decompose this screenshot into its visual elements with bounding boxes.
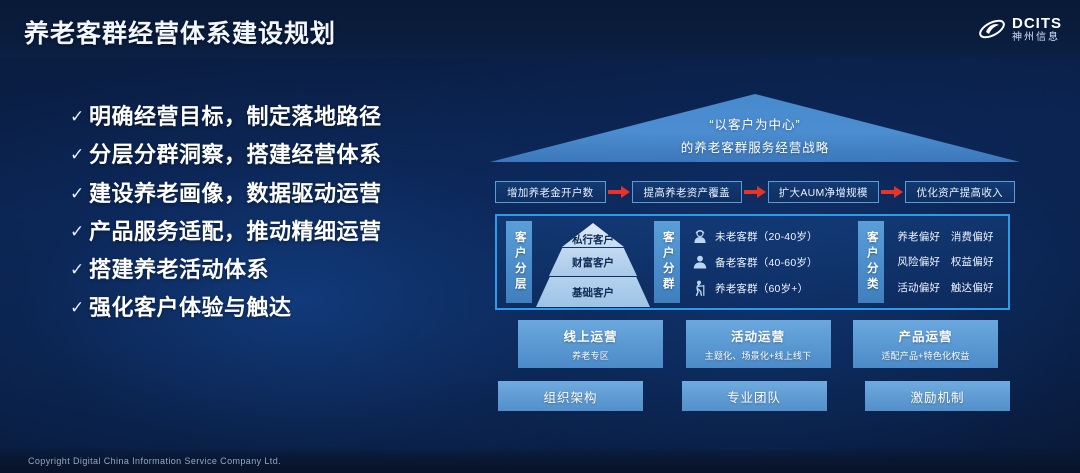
check-icon: ✓ xyxy=(70,223,89,240)
strategy-line-2: 的养老客群服务经营战略 xyxy=(490,137,1020,156)
customer-group-list: 未老客群（20-40岁） 备老客群（40-60岁） xyxy=(684,221,854,303)
tier-label: 客户分层 xyxy=(506,221,532,303)
pyramid-tier-bottom: 基础客户 xyxy=(536,277,650,307)
chain-step: 扩大AUM净增规模 xyxy=(768,181,879,203)
copyright-text: Copyright Digital China Information Serv… xyxy=(28,456,281,466)
foundation-row: 组织架构 专业团队 激励机制 xyxy=(498,381,1010,411)
pyramid-tier-label: 基础客户 xyxy=(572,285,614,300)
tier-pyramid: 私行客户 财富客户 基础客户 xyxy=(536,221,650,303)
slide-canvas: 养老客群经营体系建设规划 DCITS 神州信息 ✓ 明确经营目标，制定落地路径 … xyxy=(0,0,1080,473)
list-item-label: 产品服务适配，推动精细运营 xyxy=(89,219,382,244)
arrow-right-icon xyxy=(606,180,632,204)
strategy-banner: “以客户为中心” 的养老客群服务经营战略 xyxy=(490,88,1020,168)
list-item: ✓ 分层分群洞察，搭建经营体系 xyxy=(70,142,470,167)
preference-tag: 触达偏好 xyxy=(951,280,994,295)
dcits-swirl-icon xyxy=(978,15,1006,43)
list-item-label: 强化客户体验与触达 xyxy=(89,295,292,320)
logo-text-en: DCITS xyxy=(1012,16,1062,31)
page-title: 养老客群经营体系建设规划 xyxy=(24,14,336,50)
brand-logo: DCITS 神州信息 xyxy=(978,12,1062,46)
operation-title: 线上运营 xyxy=(563,326,617,345)
check-icon: ✓ xyxy=(70,146,89,163)
operation-card: 产品运营 适配产品+特色化权益 xyxy=(853,320,998,368)
chain-step: 增加养老金开户数 xyxy=(495,181,606,203)
pyramid-tier-label: 财富客户 xyxy=(572,255,614,270)
strategy-diagram: “以客户为中心” 的养老客群服务经营战略 增加养老金开户数 提高养老资产覆盖 扩… xyxy=(490,88,1020,428)
list-item: ✓ 建设养老画像，数据驱动运营 xyxy=(70,181,470,206)
group-label: 客户分群 xyxy=(654,221,680,303)
bullet-list: ✓ 明确经营目标，制定落地路径 ✓ 分层分群洞察，搭建经营体系 ✓ 建设养老画像… xyxy=(70,104,470,334)
strategy-banner-text: “以客户为中心” 的养老客群服务经营战略 xyxy=(490,114,1020,156)
preference-tag: 活动偏好 xyxy=(897,280,940,295)
pyramid-tier-label: 私行客户 xyxy=(572,232,614,247)
customer-preference-grid: 养老偏好 消费偏好 风险偏好 权益偏好 活动偏好 触达偏好 xyxy=(888,221,1003,303)
arrow-right-icon xyxy=(742,180,768,204)
list-item: 备老客群（40-60岁） xyxy=(692,254,854,270)
list-item: ✓ 强化客户体验与触达 xyxy=(70,295,470,320)
group-item-label: 备老客群（40-60岁） xyxy=(715,255,818,270)
list-item: 养老客群（60岁+） xyxy=(692,280,854,296)
chain-step: 提高养老资产覆盖 xyxy=(632,181,743,203)
chain-step: 优化资产提高收入 xyxy=(905,181,1016,203)
list-item-label: 明确经营目标，制定落地路径 xyxy=(89,104,382,129)
check-icon: ✓ xyxy=(70,185,89,202)
preference-tag: 养老偏好 xyxy=(897,229,940,244)
customer-segmentation-panel: 客户分层 私行客户 财富客户 基础客户 客户分群 xyxy=(495,214,1010,310)
check-icon: ✓ xyxy=(70,299,89,316)
pyramid-tier-top: 私行客户 xyxy=(562,223,624,247)
check-icon: ✓ xyxy=(70,261,89,278)
person-bust-icon xyxy=(692,254,708,270)
pyramid-tier-middle: 财富客户 xyxy=(549,248,637,276)
objective-chain: 增加养老金开户数 提高养老资产覆盖 扩大AUM净增规模 优化资产提高收入 xyxy=(495,180,1015,204)
foundation-card: 组织架构 xyxy=(498,381,643,411)
operation-subtitle: 适配产品+特色化权益 xyxy=(881,349,969,362)
operation-title: 产品运营 xyxy=(898,326,952,345)
slide-footer: Copyright Digital China Information Serv… xyxy=(0,447,1080,473)
elderly-cane-icon xyxy=(692,280,708,296)
logo-text-cn: 神州信息 xyxy=(1012,33,1062,43)
list-item: ✓ 产品服务适配，推动精细运营 xyxy=(70,219,470,244)
operation-title: 活动运营 xyxy=(731,326,785,345)
preference-tag: 风险偏好 xyxy=(897,254,940,269)
foundation-card: 专业团队 xyxy=(682,381,827,411)
list-item: ✓ 明确经营目标，制定落地路径 xyxy=(70,104,470,129)
group-item-label: 未老客群（20-40岁） xyxy=(715,229,818,244)
classify-label: 客户分类 xyxy=(858,221,884,303)
preference-tag: 权益偏好 xyxy=(951,254,994,269)
preference-tag: 消费偏好 xyxy=(951,229,994,244)
check-icon: ✓ xyxy=(70,108,89,125)
arrow-right-icon xyxy=(879,180,905,204)
list-item-label: 分层分群洞察，搭建经营体系 xyxy=(89,142,382,167)
operation-subtitle: 养老专区 xyxy=(572,349,609,362)
list-item: 未老客群（20-40岁） xyxy=(692,228,854,244)
list-item: ✓ 搭建养老活动体系 xyxy=(70,257,470,282)
group-item-label: 养老客群（60岁+） xyxy=(715,281,808,296)
operation-card: 活动运营 主题化、场景化+线上线下 xyxy=(686,320,831,368)
operation-subtitle: 主题化、场景化+线上线下 xyxy=(705,349,812,362)
list-item-label: 建设养老画像，数据驱动运营 xyxy=(89,181,382,206)
logo-wordmark: DCITS 神州信息 xyxy=(1012,16,1062,43)
foundation-card: 激励机制 xyxy=(865,381,1010,411)
operation-card: 线上运营 养老专区 xyxy=(518,320,663,368)
slide-header: 养老客群经营体系建设规划 DCITS 神州信息 xyxy=(0,0,1080,58)
young-woman-icon xyxy=(692,228,708,244)
list-item-label: 搭建养老活动体系 xyxy=(89,257,269,282)
operations-row: 线上运营 养老专区 活动运营 主题化、场景化+线上线下 产品运营 适配产品+特色… xyxy=(518,320,998,368)
strategy-line-1: “以客户为中心” xyxy=(490,114,1020,133)
